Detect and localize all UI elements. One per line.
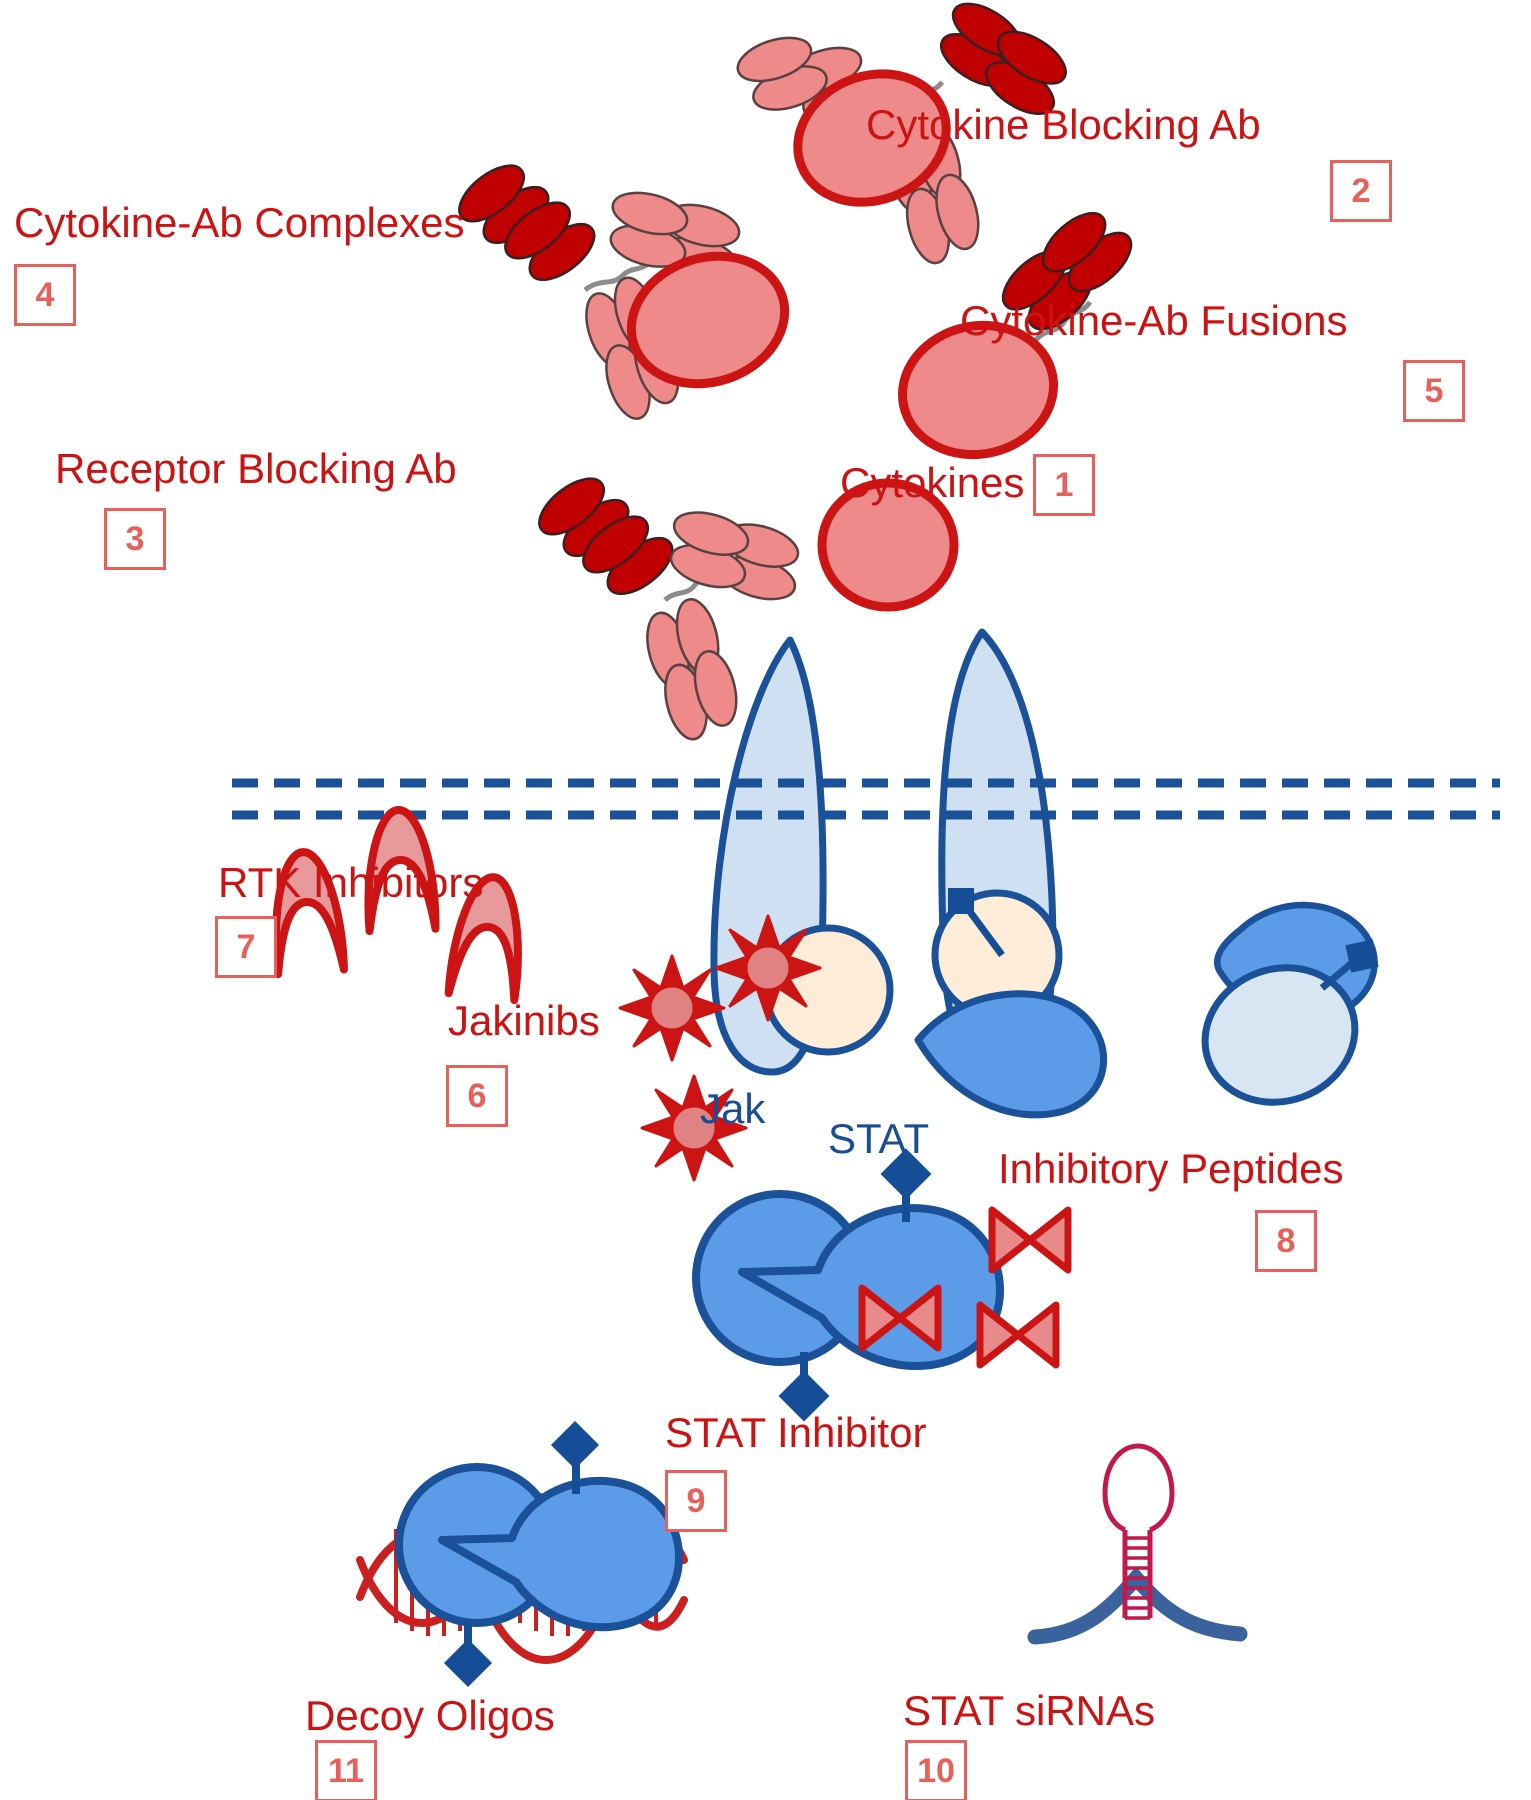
label-cytokine-ab-fusions: Cytokine-Ab Fusions xyxy=(960,300,1348,342)
label-jak: Jak xyxy=(700,1088,765,1130)
plasma-membrane xyxy=(232,783,1500,815)
numbox-inhibitory-peptides: 8 xyxy=(1255,1210,1317,1272)
bowtie-inhibitor-2 xyxy=(992,1210,1068,1270)
numbox-stat-inhibitor: 9 xyxy=(665,1470,727,1532)
jakinib-star-2 xyxy=(716,916,820,1020)
label-cytokine-ab-complexes: Cytokine-Ab Complexes xyxy=(14,202,465,244)
numbox-cytokine-ab-fusions: 5 xyxy=(1403,360,1465,422)
numbox-decoy-oligos: 11 xyxy=(315,1740,377,1800)
numbox-cytokine-blocking-ab: 2 xyxy=(1330,160,1392,222)
label-decoy-oligos: Decoy Oligos xyxy=(305,1695,555,1737)
hairpin-loop xyxy=(1105,1446,1172,1530)
bowtie-inhibitor-3 xyxy=(980,1305,1056,1365)
label-cytokine-blocking-ab: Cytokine Blocking Ab xyxy=(866,104,1261,146)
label-inhibitory-peptides: Inhibitory Peptides xyxy=(998,1148,1344,1190)
phospho-group-decoy-bottom xyxy=(444,1639,492,1687)
numbox-cytokines: 1 xyxy=(1033,454,1095,516)
inhibitory-peptide-group xyxy=(1186,905,1379,1123)
hairpin-base-pairs xyxy=(1125,1538,1150,1618)
label-receptor-blocking-ab: Receptor Blocking Ab xyxy=(55,448,457,490)
decoy-oligo-group xyxy=(360,1421,684,1687)
numbox-receptor-blocking-ab: 3 xyxy=(104,508,166,570)
label-cytokines: Cytokines xyxy=(840,462,1024,504)
label-stat: STAT xyxy=(828,1118,929,1160)
figure-canvas: Cytokine-Ab Complexes 4 Cytokine Blockin… xyxy=(0,0,1531,1800)
numbox-jakinibs: 6 xyxy=(446,1065,508,1127)
label-jakinibs: Jakinibs xyxy=(448,1000,600,1042)
phospho-group-decoy-top xyxy=(551,1421,599,1469)
label-rtk-inhibitors: RTK Inhibitors xyxy=(218,862,483,904)
antibody-cytokine-ab-complex xyxy=(450,151,801,424)
phospho-group-peptide xyxy=(1345,939,1378,972)
numbox-cytokine-ab-complexes: 4 xyxy=(14,264,76,326)
label-stat-sirnas: STAT siRNAs xyxy=(903,1690,1155,1732)
jakinib-star-1 xyxy=(620,956,724,1060)
label-stat-inhibitor: STAT Inhibitor xyxy=(665,1412,926,1454)
numbox-rtk-inhibitors: 7 xyxy=(215,916,277,978)
phospho-group-docked xyxy=(948,888,974,914)
numbox-stat-sirnas: 10 xyxy=(905,1740,967,1800)
sirna-hairpin-group xyxy=(1035,1446,1240,1637)
